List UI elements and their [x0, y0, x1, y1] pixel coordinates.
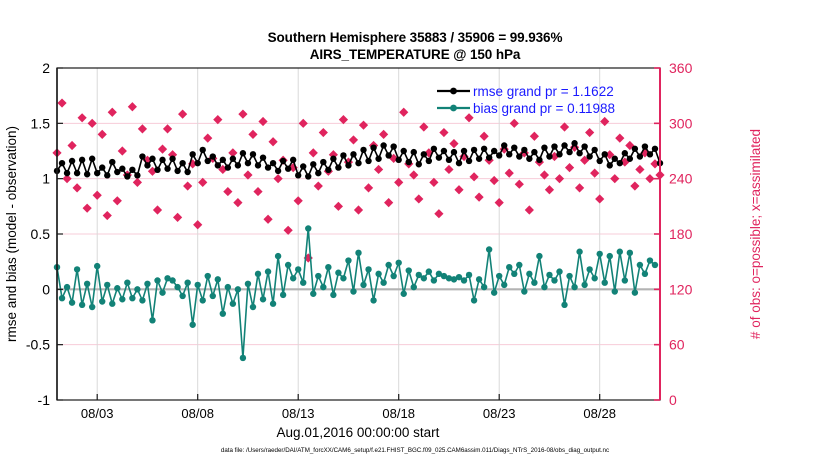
y-tick-label-left: 1 — [42, 171, 50, 187]
y-tick-label-right: 60 — [669, 337, 685, 353]
y-tick-label-right: 120 — [669, 281, 693, 297]
x-tick-label: 08/13 — [282, 406, 315, 421]
x-axis-label: Aug.01,2016 00:00:00 start — [277, 425, 440, 440]
y-tick-label-right: 300 — [669, 115, 693, 131]
y-axis-right-label: # of obs: o=possible; x=assimilated — [748, 129, 763, 339]
chart-legend: rmse grand pr = 1.1622bias grand pr = 0.… — [437, 84, 615, 116]
y-tick-label-right: 180 — [669, 226, 693, 242]
legend-label-bias: bias grand pr = 0.11988 — [473, 101, 615, 116]
y-tick-label-right: 240 — [669, 171, 693, 187]
y-tick-label-left: -0.5 — [26, 337, 50, 353]
y-tick-label-left: -1 — [38, 392, 51, 408]
data-file-footer: data file: /Users/raeder/DAI/ATM_forcXX/… — [221, 447, 609, 454]
y-tick-label-left: 0 — [42, 281, 50, 297]
y-tick-label-left: 2 — [42, 60, 50, 76]
legend-label-rmse: rmse grand pr = 1.1622 — [473, 84, 614, 99]
plot-area: -1-0.500.511.52 060120180240300360 08/03… — [0, 0, 830, 470]
x-tick-label: 08/18 — [382, 406, 415, 421]
bias-series — [54, 225, 658, 361]
x-tick-label: 08/08 — [181, 406, 214, 421]
x-axis-ticks: 08/0308/0808/1308/1808/2308/28 — [81, 394, 616, 421]
x-tick-label: 08/23 — [483, 406, 516, 421]
figure-canvas: Southern Hemisphere 35883 / 35906 = 99.9… — [0, 0, 830, 470]
y-tick-label-right: 0 — [669, 392, 677, 408]
y-tick-label-right: 360 — [669, 60, 693, 76]
y-tick-label-left: 0.5 — [31, 226, 51, 242]
x-tick-label: 08/03 — [81, 406, 114, 421]
x-tick-label: 08/28 — [583, 406, 616, 421]
y-axis-left-label: rmse and bias (model - observation) — [4, 126, 19, 342]
y-tick-label-left: 1.5 — [31, 115, 51, 131]
